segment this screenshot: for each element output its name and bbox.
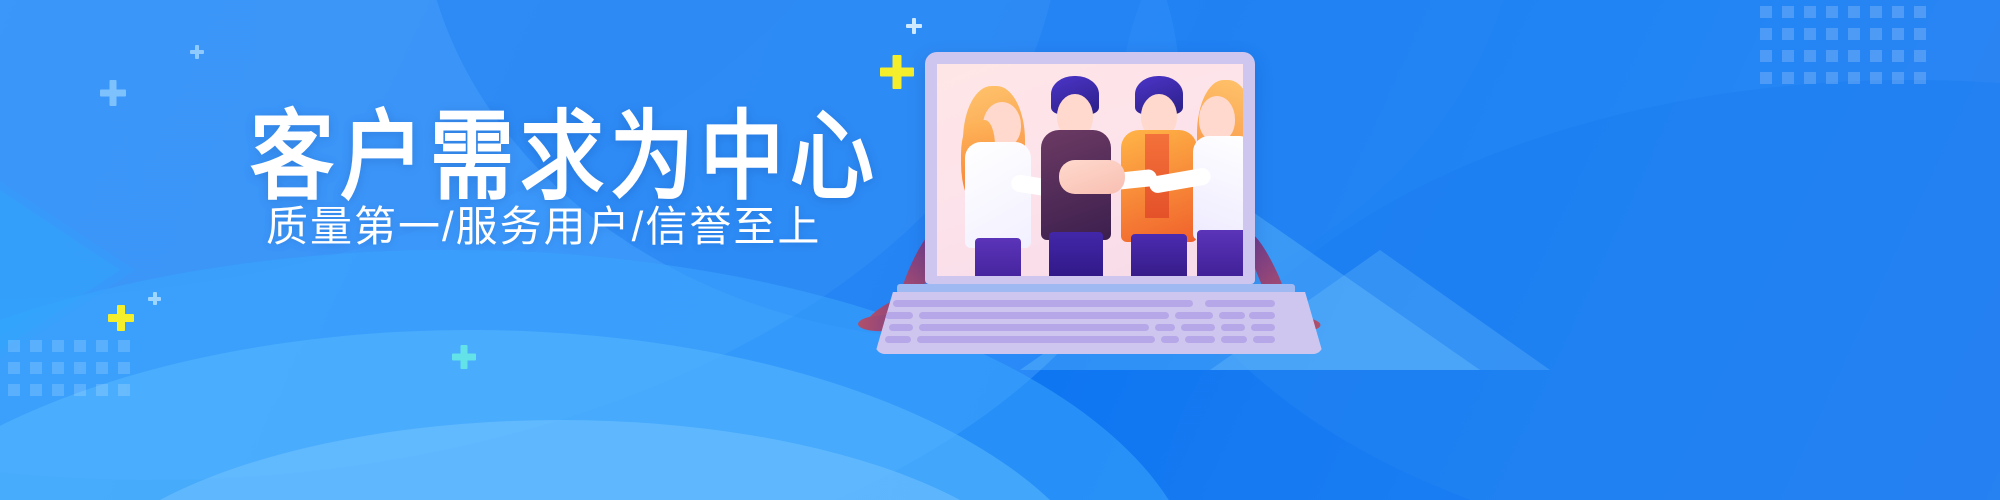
person-3-trousers <box>1131 234 1187 276</box>
grid-dot <box>30 340 42 352</box>
grid-dot <box>1804 50 1816 62</box>
grid-dot <box>1826 28 1838 40</box>
keyboard-key <box>1249 312 1275 319</box>
person-1-cardigan <box>965 142 1031 248</box>
banner-copy: 客户需求为中心 质量第一/服务用户/信誉至上 <box>250 108 870 192</box>
grid-dot <box>74 362 86 374</box>
keyboard-key <box>1219 312 1245 319</box>
keyboard-key <box>1221 336 1247 343</box>
keyboard-key <box>1155 324 1175 331</box>
keyboard-key <box>1253 336 1275 343</box>
teamwork-laptop-illustration <box>905 52 1325 352</box>
keyboard-key <box>1175 312 1213 319</box>
bg-wave-bottom-2 <box>0 330 1120 500</box>
grid-dot <box>52 340 64 352</box>
grid-dot <box>1870 50 1882 62</box>
grid-dot <box>52 384 64 396</box>
joined-hands <box>1059 160 1125 194</box>
grid-dot <box>1826 6 1838 18</box>
grid-dot <box>1914 6 1926 18</box>
person-4-skirt <box>1197 230 1243 276</box>
grid-dot <box>1892 50 1904 62</box>
grid-dot <box>1804 28 1816 40</box>
grid-dot <box>1826 72 1838 84</box>
grid-dot <box>1760 28 1772 40</box>
person-1-trousers <box>975 238 1021 276</box>
keyboard-key <box>1161 336 1179 343</box>
grid-dot <box>1848 72 1860 84</box>
banner-headline: 客户需求为中心 <box>250 108 870 205</box>
grid-dot <box>1760 50 1772 62</box>
bg-wave-bottom-3 <box>60 420 1060 500</box>
plus-white-tiny-icon <box>190 45 204 59</box>
promo-banner: 客户需求为中心 质量第一/服务用户/信誉至上 <box>0 0 2000 500</box>
grid-dot <box>1804 72 1816 84</box>
grid-dot <box>74 384 86 396</box>
plus-white-small-icon <box>906 18 922 34</box>
keyboard-key <box>1185 336 1215 343</box>
grid-dot <box>1870 6 1882 18</box>
keyboard-key <box>885 336 911 343</box>
grid-dot <box>8 340 20 352</box>
keyboard-key <box>893 300 1193 307</box>
plus-cyan-bottom-icon <box>452 345 476 369</box>
person-4 <box>1193 80 1243 276</box>
laptop-keyboard <box>875 292 1323 354</box>
laptop-lid <box>925 52 1255 284</box>
keyboard-key <box>1221 324 1245 331</box>
plus-white-mid-icon <box>100 80 126 106</box>
plus-yellow-small-icon <box>108 305 134 331</box>
person-1 <box>955 86 1041 276</box>
grid-dot <box>1914 50 1926 62</box>
person-4-shirt <box>1193 136 1243 240</box>
grid-dot <box>1892 72 1904 84</box>
grid-dot <box>30 384 42 396</box>
grid-dot <box>8 362 20 374</box>
bg-chevron-outer <box>0 120 95 420</box>
grid-dot <box>118 362 130 374</box>
grid-dot <box>52 362 64 374</box>
grid-dot <box>74 340 86 352</box>
grid-dot <box>96 340 108 352</box>
grid-dot <box>1892 6 1904 18</box>
grid-dot <box>1782 6 1794 18</box>
laptop-screen <box>937 64 1243 276</box>
bg-chevron-mid <box>0 150 120 390</box>
grid-dot <box>118 340 130 352</box>
keyboard-key <box>1205 300 1275 307</box>
grid-dot <box>1870 28 1882 40</box>
grid-dot <box>96 384 108 396</box>
bg-chevron-inner <box>0 175 135 365</box>
grid-dot <box>1782 72 1794 84</box>
grid-dot <box>1848 28 1860 40</box>
keyboard-key <box>889 324 913 331</box>
grid-dot <box>8 384 20 396</box>
keyboard-key <box>885 312 913 319</box>
grid-dot <box>1782 28 1794 40</box>
grid-dot <box>1914 28 1926 40</box>
grid-dot <box>96 362 108 374</box>
grid-dot <box>1892 28 1904 40</box>
grid-dot <box>1848 6 1860 18</box>
keyboard-key <box>917 336 1155 343</box>
plus-white-bottomleft-icon <box>148 292 161 305</box>
keyboard-key <box>1181 324 1215 331</box>
person-2-trousers <box>1049 232 1103 276</box>
grid-dot <box>30 362 42 374</box>
grid-dot <box>1870 72 1882 84</box>
banner-subheadline: 质量第一/服务用户/信誉至上 <box>266 206 821 248</box>
grid-dot <box>1782 50 1794 62</box>
keyboard-key <box>1251 324 1275 331</box>
keyboard-key <box>919 324 1149 331</box>
grid-dot <box>1804 6 1816 18</box>
grid-dot <box>1760 72 1772 84</box>
grid-dot <box>1760 6 1772 18</box>
keyboard-key <box>919 312 1169 319</box>
dot-grid-bottom-left <box>8 340 140 406</box>
grid-dot <box>118 384 130 396</box>
grid-dot <box>1914 72 1926 84</box>
grid-dot <box>1848 50 1860 62</box>
dot-grid-top-right <box>1760 6 1936 94</box>
grid-dot <box>1826 50 1838 62</box>
